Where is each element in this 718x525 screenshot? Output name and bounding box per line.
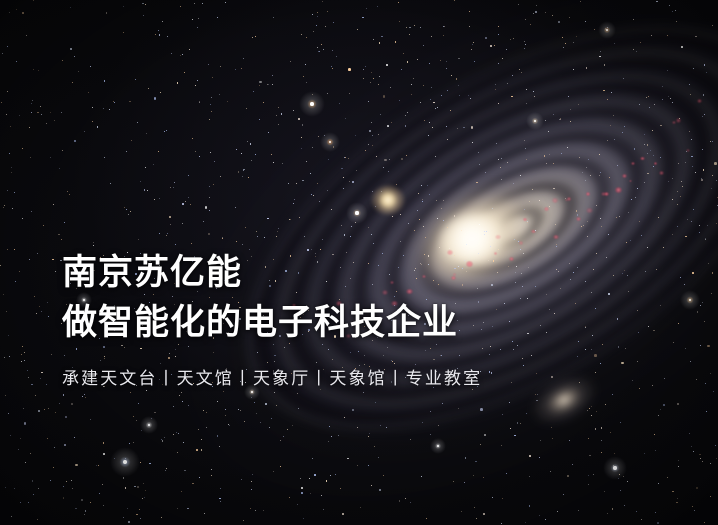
headline-line-2: 做智能化的电子科技企业 bbox=[62, 298, 662, 348]
hero-subtitle: 承建天文台丨天文馆丨天象厅丨天象馆丨专业教室 bbox=[62, 364, 662, 389]
hero-banner: 南京苏亿能 做智能化的电子科技企业 承建天文台丨天文馆丨天象厅丨天象馆丨专业教室 bbox=[0, 0, 718, 525]
hero-copy: 南京苏亿能 做智能化的电子科技企业 承建天文台丨天文馆丨天象厅丨天象馆丨专业教室 bbox=[62, 248, 662, 389]
headline-line-1: 南京苏亿能 bbox=[62, 248, 662, 298]
